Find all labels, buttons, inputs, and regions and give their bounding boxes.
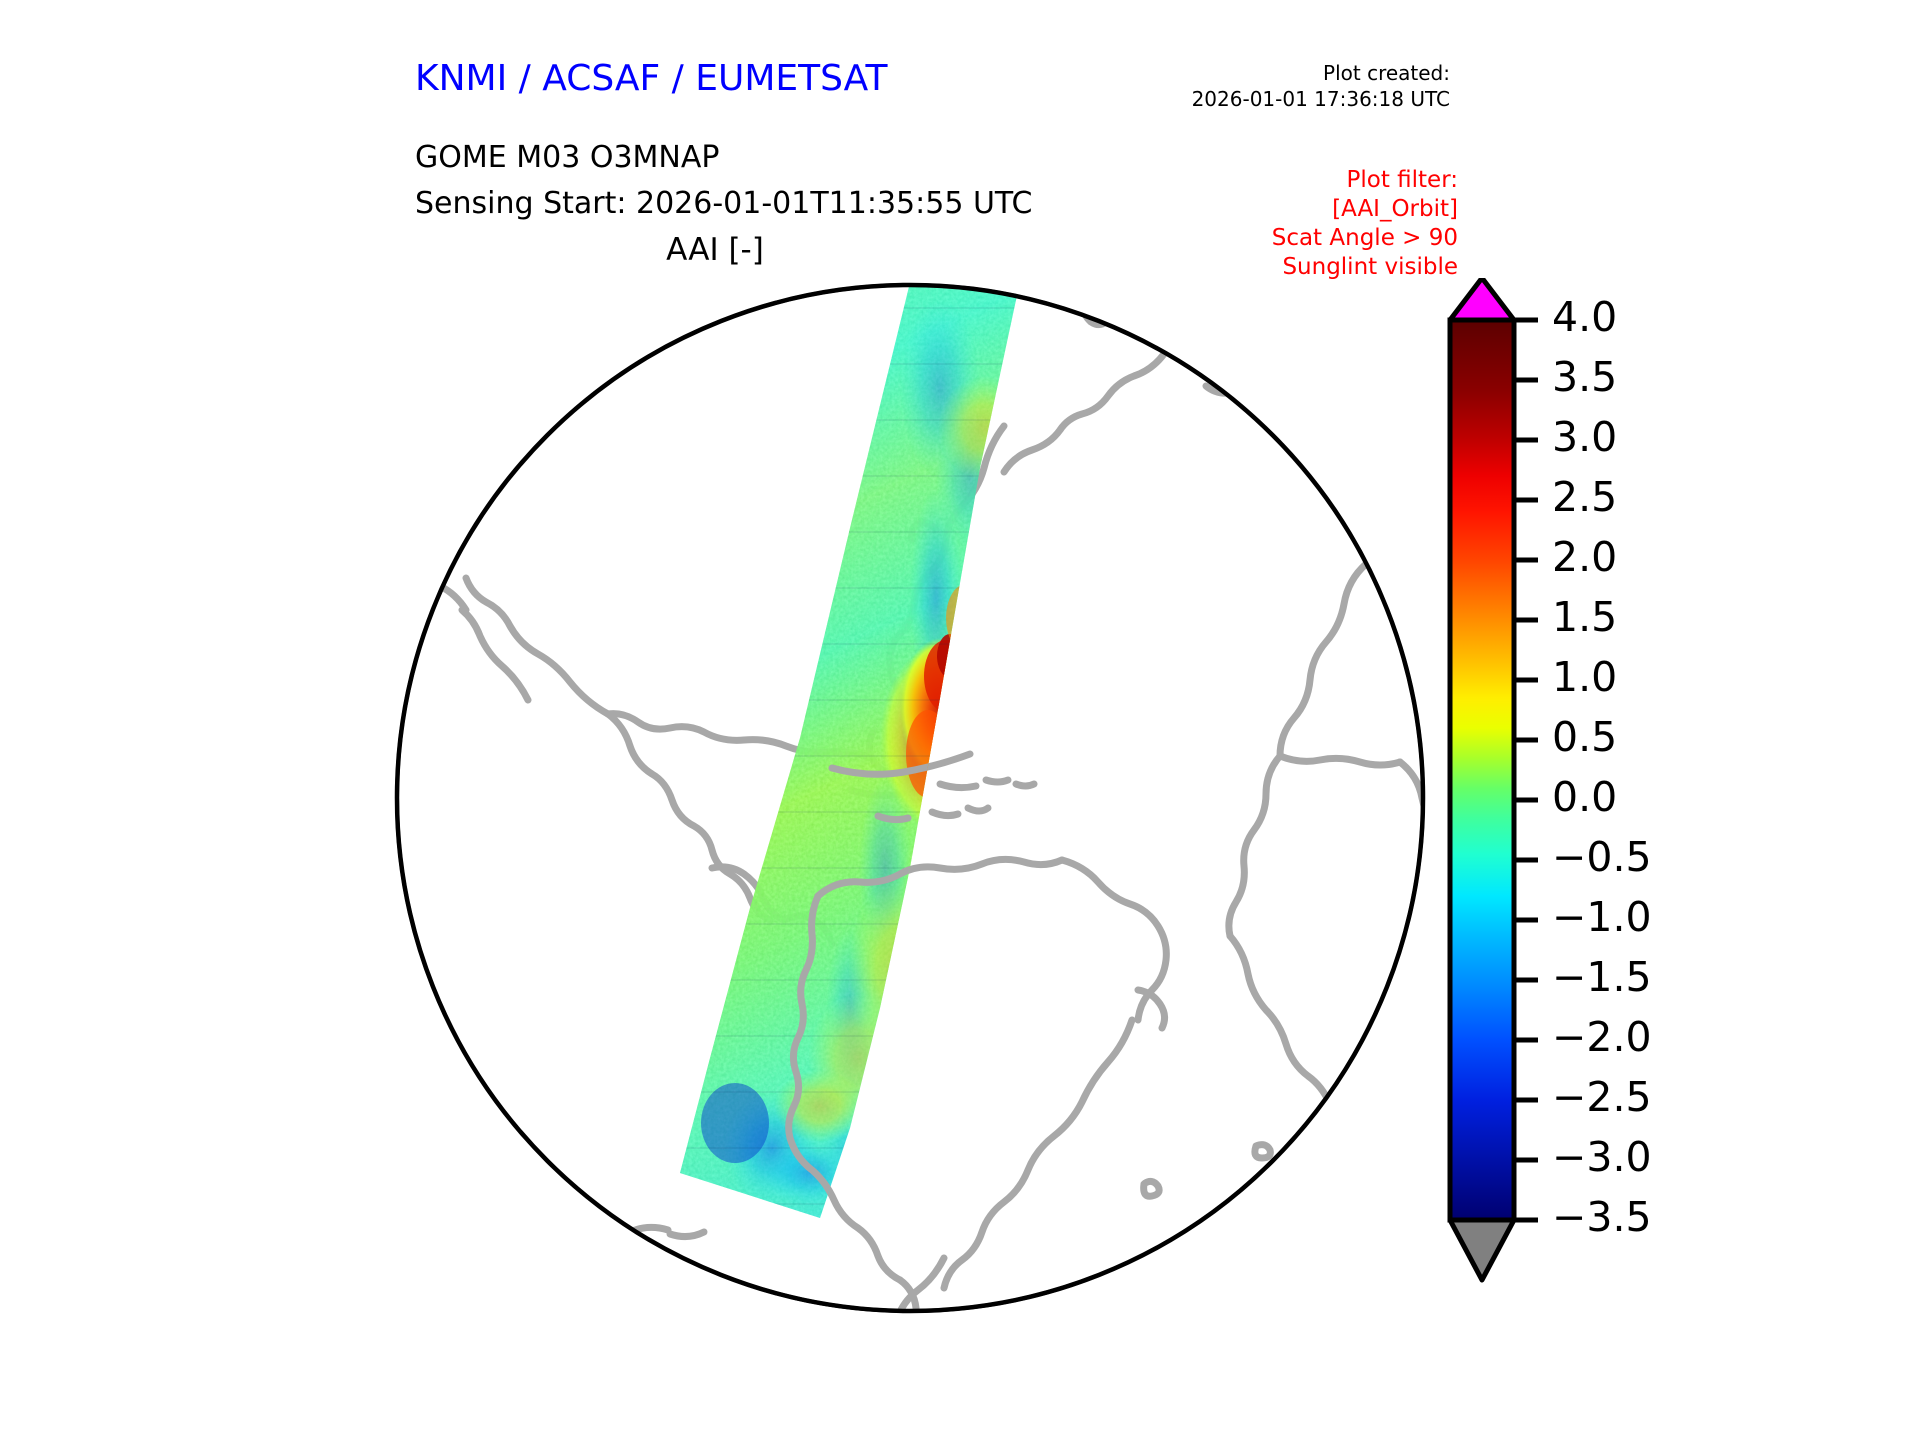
colorbar-tick-label: 4.0 xyxy=(1552,293,1617,341)
colorbar-tick-label: −2.5 xyxy=(1552,1073,1652,1121)
colorbar-tick-label: 2.0 xyxy=(1552,533,1617,581)
plot-created-label: Plot created: xyxy=(1192,60,1450,86)
colorbar-tick-label: 0.0 xyxy=(1552,773,1617,821)
colorbar-tick-label: 3.5 xyxy=(1552,353,1617,401)
plot-filter-block: Plot filter: [AAI_Orbit] Scat Angle > 90… xyxy=(1272,166,1458,282)
colorbar: 4.0 3.5 3.0 2.5 2.0 1.5 1.0 0.5 0.0 −0.5… xyxy=(1440,278,1770,1318)
colorbar-tick-label: −0.5 xyxy=(1552,833,1652,881)
plot-title: AAI [-] xyxy=(0,232,1430,268)
colorbar-over-range-arrow xyxy=(1450,278,1514,320)
organisation-title: KNMI / ACSAF / EUMETSAT xyxy=(415,58,887,99)
plot-filter-line-1: [AAI_Orbit] xyxy=(1272,195,1458,224)
colorbar-tick-label: −1.0 xyxy=(1552,893,1652,941)
colorbar-tick-label: −2.0 xyxy=(1552,1013,1652,1061)
colorbar-tick-label: 1.0 xyxy=(1552,653,1617,701)
colorbar-tick-label: −1.5 xyxy=(1552,953,1652,1001)
colorbar-tick-label: 1.5 xyxy=(1552,593,1617,641)
colorbar-tick-label: 3.0 xyxy=(1552,413,1617,461)
colorbar-tick-labels: 4.0 3.5 3.0 2.5 2.0 1.5 1.0 0.5 0.0 −0.5… xyxy=(1552,293,1652,1241)
plot-filter-label: Plot filter: xyxy=(1272,166,1458,195)
orthographic-globe xyxy=(380,268,1440,1328)
colorbar-tick-label: 2.5 xyxy=(1552,473,1617,521)
plot-created-block: Plot created: 2026-01-01 17:36:18 UTC xyxy=(1192,60,1450,112)
plot-created-value: 2026-01-01 17:36:18 UTC xyxy=(1192,86,1450,112)
colorbar-panel: 4.0 3.5 3.0 2.5 2.0 1.5 1.0 0.5 0.0 −0.5… xyxy=(1440,278,1770,1318)
map-globe-panel xyxy=(380,268,1440,1328)
colorbar-tick-label: −3.0 xyxy=(1552,1133,1652,1181)
colorbar-tick-label: 0.5 xyxy=(1552,713,1617,761)
colorbar-ticks xyxy=(1514,320,1538,1220)
colorbar-gradient xyxy=(1450,320,1514,1220)
colorbar-tick-label: −3.5 xyxy=(1552,1193,1652,1241)
dataset-title: GOME M03 O3MNAP xyxy=(415,140,719,175)
plot-filter-line-2: Scat Angle > 90 xyxy=(1272,224,1458,253)
sensing-start-label: Sensing Start: 2026-01-01T11:35:55 UTC xyxy=(415,186,1032,221)
colorbar-under-range-arrow xyxy=(1450,1220,1514,1280)
